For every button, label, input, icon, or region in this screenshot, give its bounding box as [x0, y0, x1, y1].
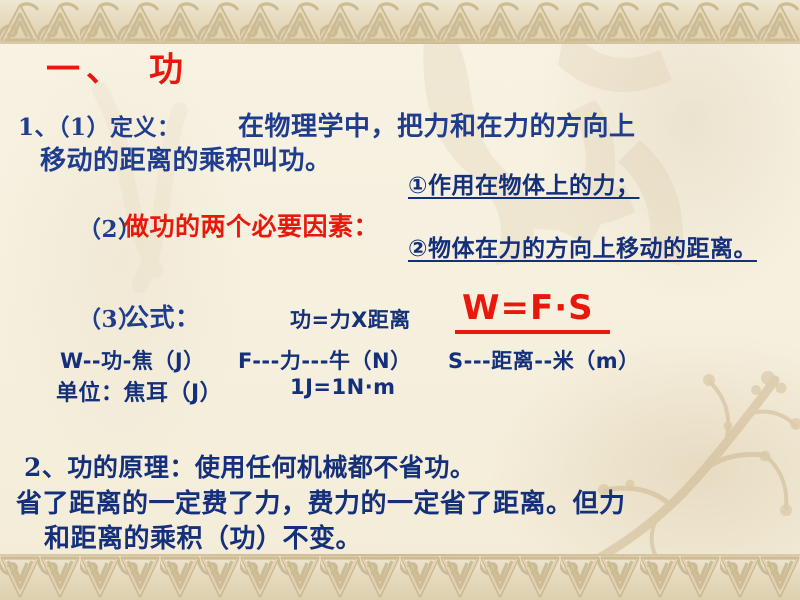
definition-label: 1、（1）定义：	[18, 108, 181, 142]
units-label: 单位：焦耳（J）	[56, 375, 222, 407]
calligraphy-watermark-left-icon	[60, 70, 240, 300]
factors-label: 做功的两个必要因素：	[124, 207, 379, 243]
symbol-f-definition: F---力---牛（N）	[238, 345, 412, 375]
principle-line1: 2、功的原理：使用任何机械都不省功。	[24, 448, 475, 484]
definition-text-line1: 在物理学中，把力和在力的方向上	[238, 106, 636, 143]
symbol-s-definition: S---距离--米（m）	[448, 345, 640, 375]
formula-underline	[455, 330, 610, 334]
factor-item-2: ②物体在力的方向上移动的距离。	[408, 229, 757, 263]
page-title: 一、 功	[46, 42, 189, 91]
symbol-w-definition: W--功-焦（J）	[60, 345, 205, 375]
main-formula: W=F·S	[462, 288, 594, 328]
units-equation: 1J=1N·m	[290, 375, 396, 399]
definition-text-line2: 移动的距离的乘积叫功。	[40, 140, 332, 177]
formula-label: 公式：	[124, 298, 201, 334]
principle-line3: 和距离的乘积（功）不变。	[44, 518, 362, 555]
word-formula: 功=力X距离	[290, 304, 411, 334]
slide-canvas: 一、 功 1、（1）定义： 在物理学中，把力和在力的方向上 移动的距离的乘积叫功…	[0, 0, 800, 600]
principle-line2: 省了距离的一定费了力，费力的一定省了距离。但力	[16, 483, 626, 520]
bottom-decorative-border	[0, 554, 800, 600]
top-decorative-border	[0, 0, 800, 44]
factor-item-1: ①作用在物体上的力；	[408, 166, 639, 200]
